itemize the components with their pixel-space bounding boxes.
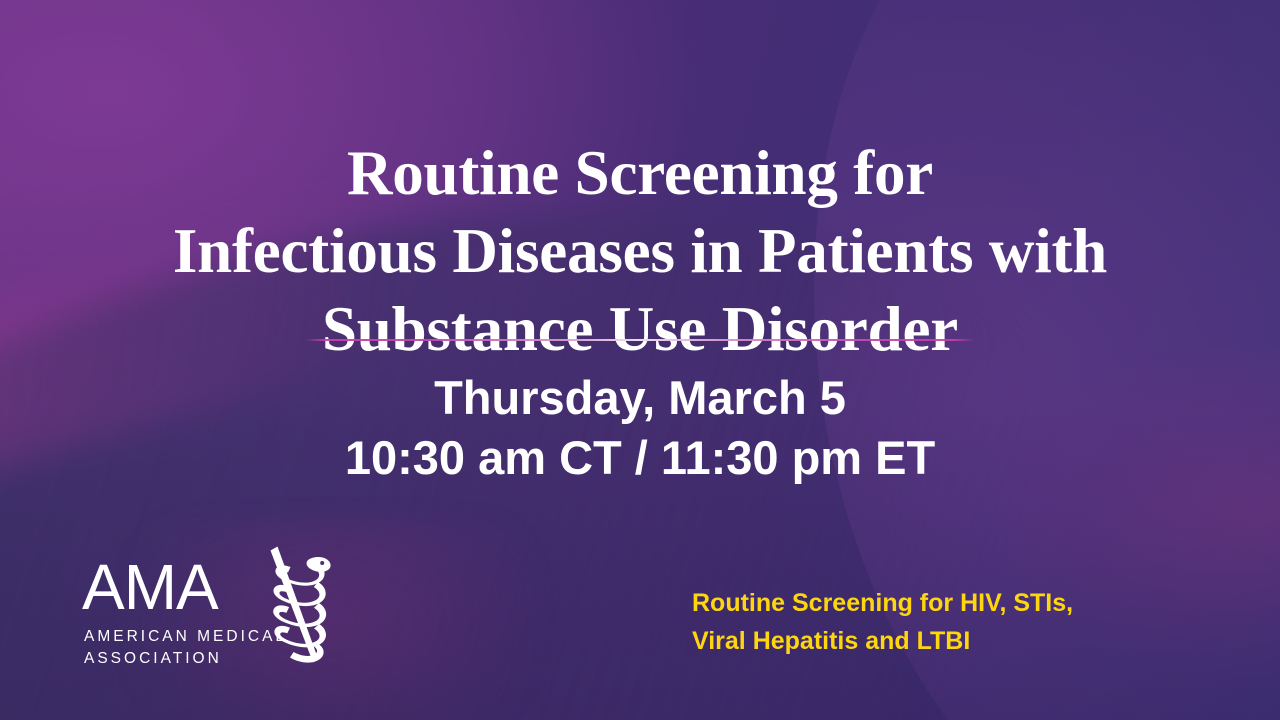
title-line-2: Infectious Diseases in Patients with bbox=[0, 212, 1280, 290]
event-datetime: Thursday, March 5 10:30 am CT / 11:30 pm… bbox=[0, 368, 1280, 488]
title-divider bbox=[305, 339, 975, 341]
ama-logo-subtext-line-2: ASSOCIATION bbox=[84, 648, 287, 670]
ama-wordmark: AMA bbox=[82, 555, 218, 619]
ama-logo-subtext: AMERICAN MEDICAL ASSOCIATION bbox=[84, 626, 287, 670]
ama-logo: AMA bbox=[82, 548, 330, 666]
ama-logo-subtext-line-1: AMERICAN MEDICAL bbox=[84, 626, 287, 648]
ama-logo-mark: AMA bbox=[82, 548, 330, 666]
slide-content: Routine Screening for Infectious Disease… bbox=[0, 0, 1280, 720]
title-line-1: Routine Screening for bbox=[0, 134, 1280, 212]
program-series-line-1: Routine Screening for HIV, STIs, bbox=[692, 584, 1212, 622]
slide-title: Routine Screening for Infectious Disease… bbox=[0, 134, 1280, 368]
title-slide: Routine Screening for Infectious Disease… bbox=[0, 0, 1280, 720]
event-date: Thursday, March 5 bbox=[0, 368, 1280, 428]
event-time: 10:30 am CT / 11:30 pm ET bbox=[0, 428, 1280, 488]
program-series-text: Routine Screening for HIV, STIs, Viral H… bbox=[692, 584, 1212, 660]
title-line-3: Substance Use Disorder bbox=[0, 290, 1280, 368]
program-series-line-2: Viral Hepatitis and LTBI bbox=[692, 622, 1212, 660]
